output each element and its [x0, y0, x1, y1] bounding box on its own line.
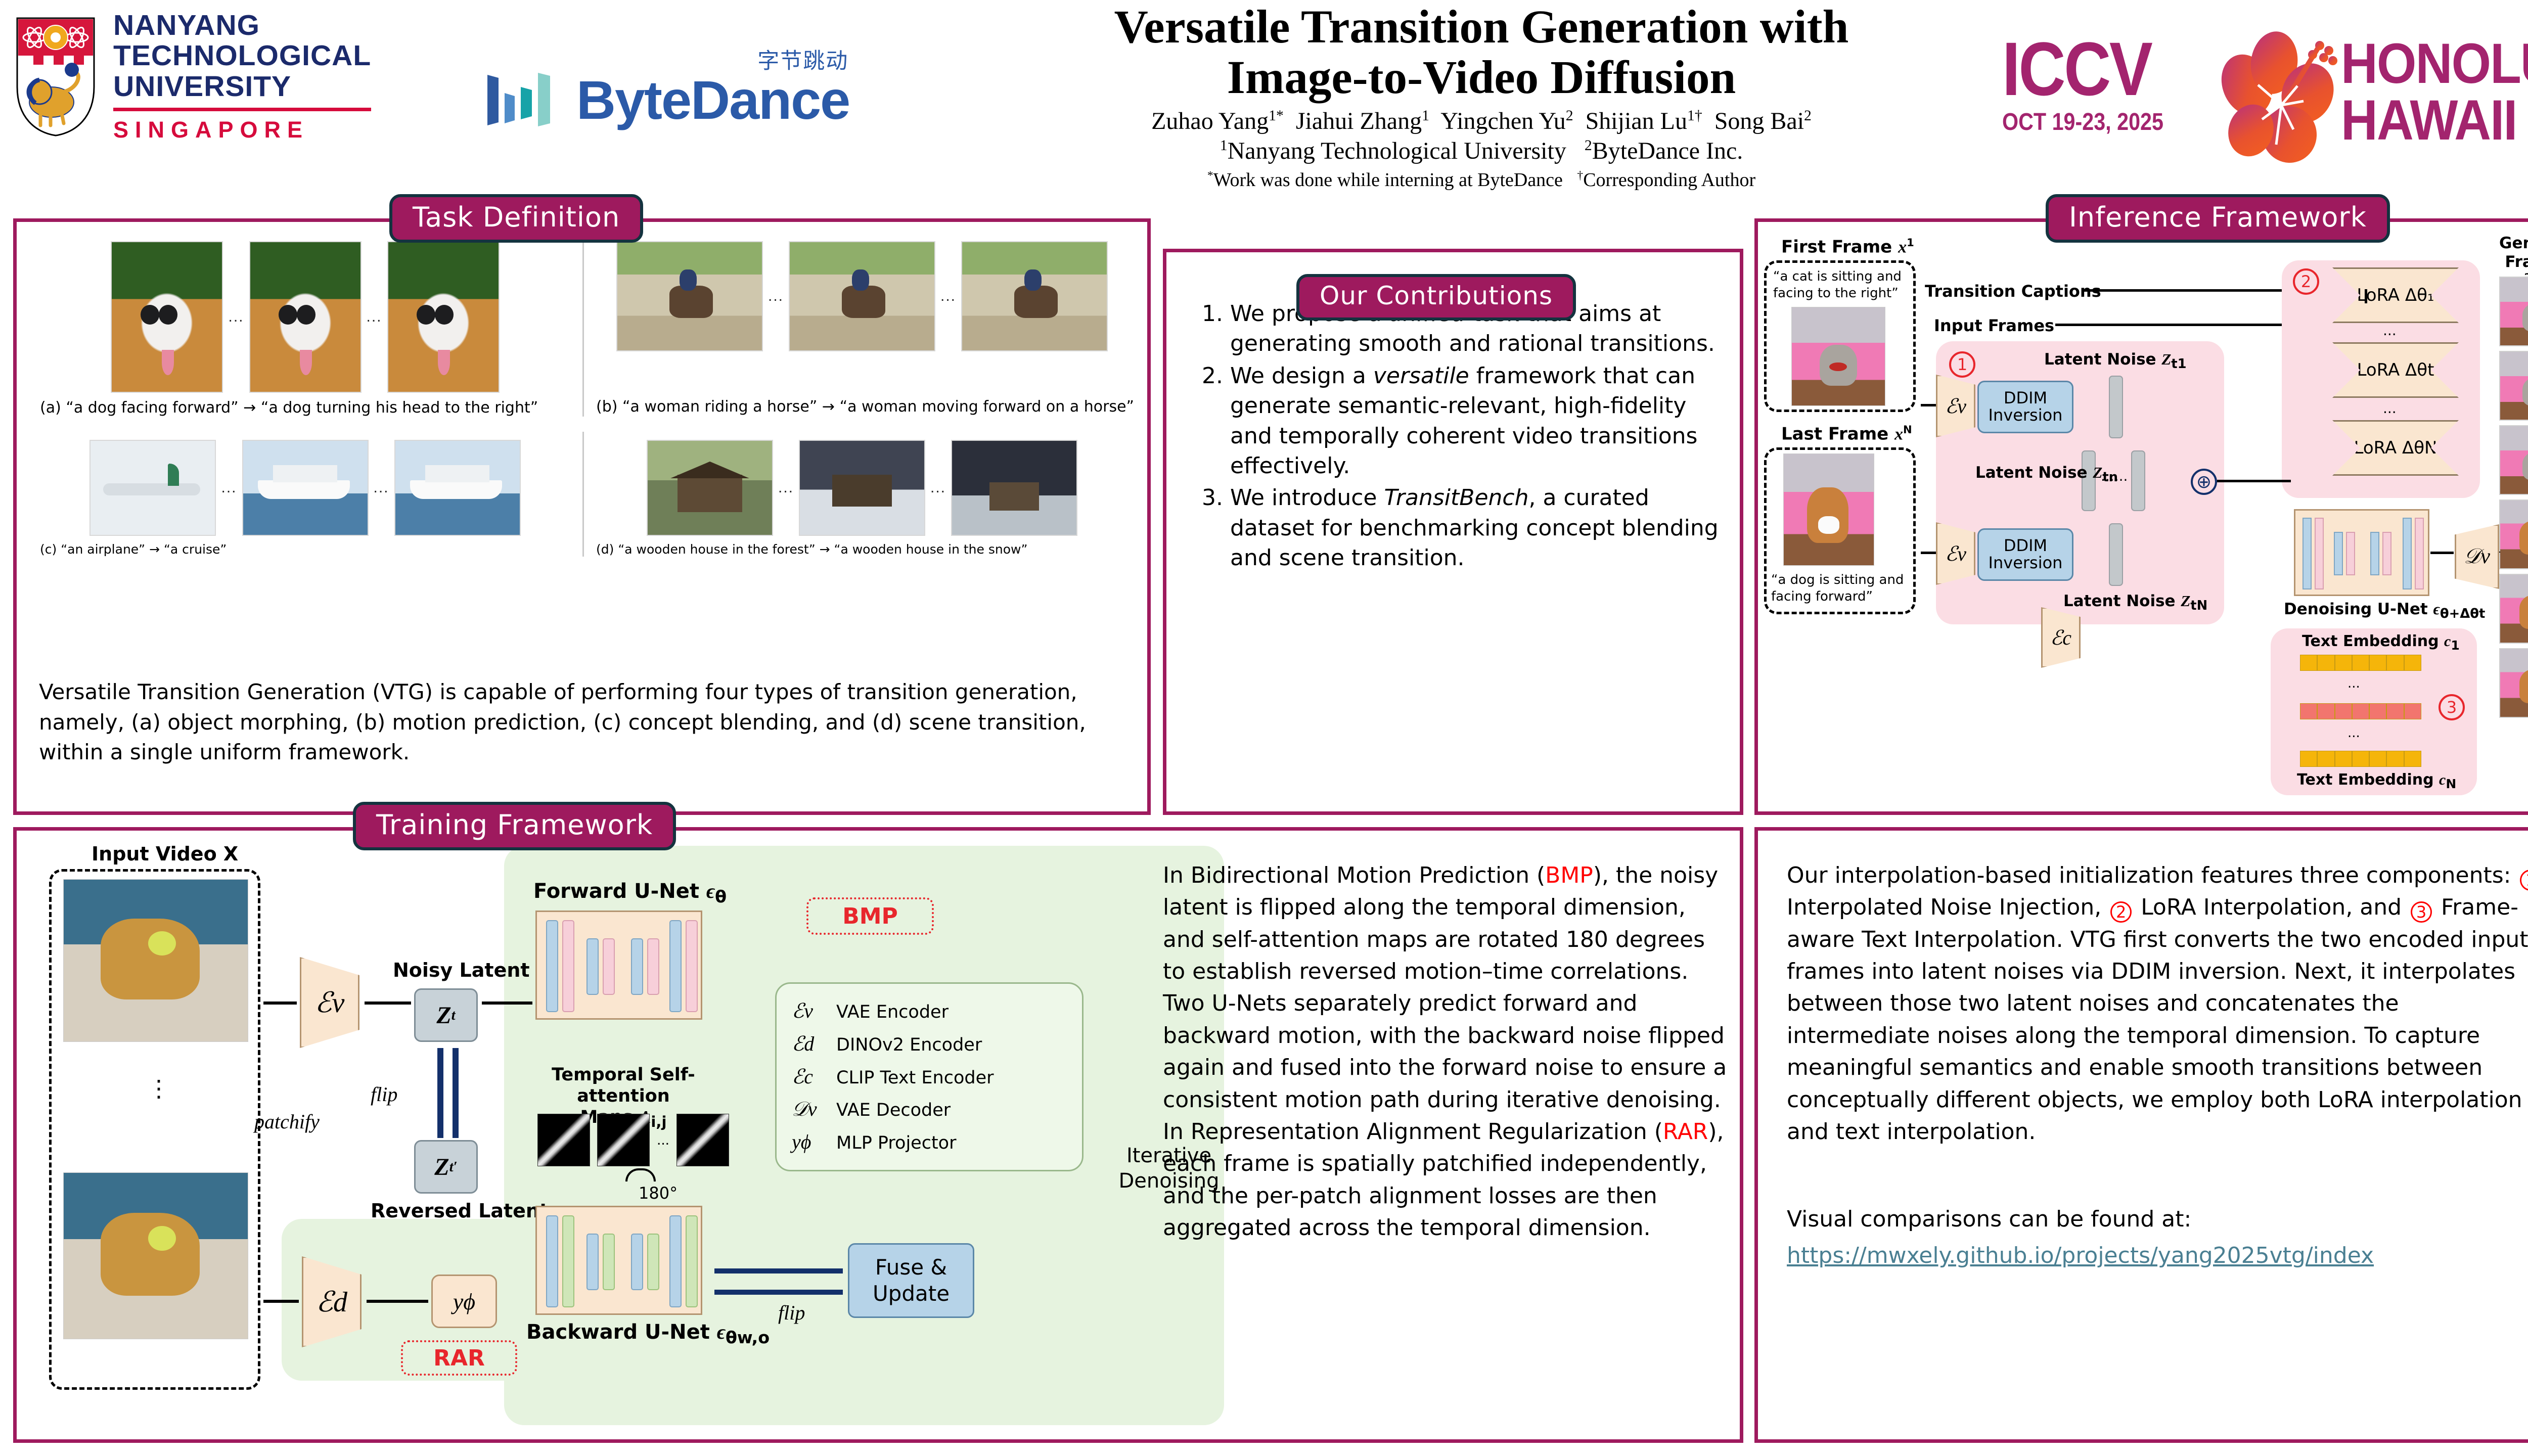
last-frame-label: Last Frame xN [1781, 423, 1912, 444]
frames-ellipsis: ... [768, 288, 784, 305]
denoising-unet-label: Denoising U-Net ϵθ+Δθt [2284, 600, 2485, 621]
sum-operator-icon: ⊕ [2191, 469, 2217, 495]
generated-frame [2499, 351, 2528, 421]
inline-marker-1: 1 [2520, 870, 2528, 891]
legend-row: 𝒟vVAE Decoder [792, 1093, 1067, 1126]
visual-comparisons-label: Visual comparisons can be found at: [1787, 1203, 2528, 1235]
latent-noise-t1-label: Latent Noise Zt1 [2044, 350, 2187, 372]
task-example-d: ... ... (d) “a wooden house in the fores… [584, 432, 1140, 557]
input-frame-last [63, 1172, 248, 1339]
inference-framework-panel: First Frame x1 “a cat is sitting and fac… [1754, 218, 2528, 815]
ntu-line-4: SINGAPORE [113, 117, 371, 143]
inline-marker-2: 2 [2110, 901, 2132, 923]
task-example-a: ... ... (a) “a dog facing forward” → “a … [28, 233, 584, 417]
project-page-link[interactable]: https://mwxely.github.io/projects/yang20… [1787, 1243, 2374, 1268]
frames-ellipsis: ... [778, 479, 794, 496]
input-frames-label: Input Frames [1934, 316, 2054, 335]
transition-captions-label-top: Transition Captions [1925, 282, 2101, 301]
iccv-state: HAWAII [2341, 92, 2528, 149]
footnote-list: *Work was done while interning at ByteDa… [1001, 168, 1962, 193]
patchify-label: patchify [254, 1110, 320, 1133]
training-description-text: In Bidirectional Motion Prediction (BMP)… [1163, 859, 1734, 1244]
generated-frame [2499, 425, 2528, 495]
vae-encoder-top-icon: ℰv [1936, 375, 1975, 437]
task-example-c: ... ... (c) “an airplane” → “a cruise” [28, 432, 584, 557]
ddim-inversion-top: DDIM Inversion [1977, 381, 2073, 433]
frames-ellipsis: ... [221, 479, 237, 496]
legend-row: ℰcCLIP Text Encoder [792, 1061, 1067, 1094]
latent-noise-tn-label: Latent Noise Ztn [1975, 464, 2118, 485]
iccv-logo: ICCV OCT 19-23, 2025 [1987, 9, 2528, 171]
first-frame-caption: “a cat is sitting and facing to the righ… [1773, 268, 1905, 301]
reversed-latent-label: Reversed Latent [371, 1200, 549, 1222]
latent-noise-tN-label: Latent Noise ZtN [2063, 592, 2207, 613]
flip-label-right: flip [778, 1301, 805, 1325]
bytedance-logo: 字节跳动 ByteDance [485, 55, 1006, 146]
ntu-logo: NANYANG TECHNOLOGICAL UNIVERSITY SINGAPO… [15, 11, 460, 143]
lora-dots-bottom: ... [2383, 400, 2397, 417]
arrow [2499, 552, 2500, 553]
arrow [2365, 289, 2367, 303]
attention-map [537, 1114, 590, 1166]
arrow [367, 1300, 428, 1303]
arrow [2430, 552, 2454, 554]
marker-1-icon: 1 [1949, 351, 1975, 378]
input-frame-first [63, 879, 248, 1042]
list-item: We design a versatile framework that can… [1230, 361, 1719, 481]
task-definition-panel: ... ... (a) “a dog facing forward” → “a … [13, 218, 1151, 815]
ntu-crest-icon [15, 16, 96, 138]
generated-frame [2499, 499, 2528, 569]
flip-arrow-up [453, 1048, 459, 1138]
fuse-update-box: Fuse & Update [848, 1243, 974, 1318]
flip-arrow-down [437, 1048, 443, 1138]
backward-unet-label: Backward U-Net ϵθw,o [526, 1320, 770, 1347]
task-example-grid: ... ... (a) “a dog facing forward” → “a … [28, 233, 1140, 557]
rar-badge: RAR [401, 1340, 517, 1376]
affiliation-list: 1Nanyang Technological University 2ByteD… [1001, 136, 1962, 166]
legend-row: ℰvVAE Encoder [792, 995, 1067, 1028]
backward-unet-shape [535, 1206, 702, 1315]
task-example-b: ... ... (b) “a woman riding a horse” → “… [584, 233, 1140, 417]
text-embedding-bar-mid [2300, 703, 2421, 719]
arrow [365, 1002, 411, 1005]
iccv-wordmark: ICCV [2002, 35, 2163, 102]
marker-2-icon: 2 [2293, 268, 2319, 295]
fuse-arrow-left [714, 1268, 843, 1273]
ntu-line-3: UNIVERSITY [113, 72, 371, 101]
bytedance-wordmark: ByteDance [576, 73, 849, 127]
last-frame-caption: “a dog is sitting and facing forward” [1771, 572, 1908, 605]
ztprime-box: Zt′ [414, 1140, 478, 1194]
title-block: Versatile Transition Generation with Ima… [1001, 2, 1962, 192]
inference-framework-title: Inference Framework [2046, 194, 2390, 243]
task-caption-d: (d) “a wooden house in the forest” → “a … [596, 542, 1128, 557]
marker-3-icon: 3 [2439, 694, 2465, 720]
ntu-line-1: NANYANG [113, 11, 371, 40]
denoising-unet-shape [2294, 509, 2429, 596]
vertical-ellipsis: ⋮ [147, 1083, 170, 1094]
frames-ellipsis: ... [930, 479, 946, 496]
generated-frame [2499, 277, 2528, 346]
generated-frame [2499, 648, 2528, 718]
text-embedding-c1-label: Text Embedding c1 [2302, 632, 2460, 653]
text-embedding-bar-cN [2300, 751, 2421, 767]
training-framework-title: Training Framework [353, 802, 676, 850]
frames-ellipsis: ... [367, 308, 382, 326]
task-caption-a: (a) “a dog facing forward” → “a dog turn… [40, 399, 570, 417]
arrow [263, 1002, 297, 1005]
text-embedding-cN-label: Text Embedding cN [2297, 771, 2456, 791]
bmp-badge: BMP [806, 897, 934, 935]
frames-ellipsis: ... [228, 308, 244, 326]
inference-diagram: First Frame x1 “a cat is sitting and fac… [1758, 222, 2528, 811]
task-definition-title: Task Definition [389, 194, 643, 243]
latent-dots: ...... [2101, 468, 2128, 484]
rotate-180-label: 180° [639, 1184, 678, 1203]
noisy-latent-label: Noisy Latent [393, 959, 530, 981]
arrow [1921, 552, 1936, 554]
legend-row: ℰdDINOv2 Encoder [792, 1028, 1067, 1061]
contributions-title: Our Contributions [1296, 274, 1576, 321]
vae-decoder-icon: 𝒟v [2455, 524, 2499, 589]
arrow [1921, 404, 1936, 406]
page-title: Versatile Transition Generation with Ima… [1001, 2, 1962, 103]
mlp-projector-icon: yϕ [431, 1275, 497, 1328]
vae-encoder-bottom-icon: ℰv [1936, 522, 1975, 585]
inference-description-text: Our interpolation-based initialization f… [1787, 859, 2528, 1271]
attention-map [676, 1114, 729, 1166]
poster-header: NANYANG TECHNOLOGICAL UNIVERSITY SINGAPO… [0, 0, 2528, 222]
iccv-city: HONOLULU [2341, 35, 2528, 92]
embedding-dots-bottom: ... [2348, 725, 2360, 741]
attention-map-row: ... [537, 1114, 729, 1166]
vae-encoder-icon: ℰv [300, 957, 359, 1048]
latent-bar [2109, 523, 2123, 586]
contributions-list: We propose a unified task that aims at g… [1191, 299, 1719, 575]
task-caption-c: (c) “an airplane” → “a cruise” [40, 542, 570, 557]
text-embedding-bar-c1 [2300, 655, 2421, 671]
zt-box: Zt [414, 988, 478, 1042]
forward-unet-label: Forward U-Net ϵθ [533, 879, 727, 906]
first-frame-image [1791, 307, 1885, 406]
fuse-arrow-right [714, 1290, 843, 1295]
hibiscus-flower-icon [2209, 25, 2346, 167]
ddim-inversion-bottom: DDIM Inversion [1977, 528, 2073, 581]
ntu-line-2: TECHNOLOGICAL [113, 41, 371, 70]
input-video-label: Input Video X [92, 843, 238, 865]
latent-bar [2131, 450, 2145, 511]
first-frame-label: First Frame x1 [1781, 236, 1914, 257]
clip-text-encoder-icon: ℰc [2041, 607, 2081, 668]
frames-ellipsis: ... [940, 288, 956, 305]
task-caption-b: (b) “a woman riding a horse” → “a woman … [596, 398, 1128, 416]
task-summary-text: Versatile Transition Generation (VTG) is… [39, 677, 1131, 767]
inline-marker-3: 3 [2411, 901, 2432, 923]
embedding-dots-top: ... [2348, 676, 2360, 691]
bytedance-mark-icon [485, 70, 561, 130]
last-frame-image [1783, 453, 1874, 566]
frames-ellipsis: ... [374, 479, 389, 496]
attention-maps-ellipsis: ... [657, 1131, 669, 1149]
forward-unet-shape [535, 911, 702, 1020]
arrow [263, 1300, 299, 1303]
bytedance-chinese-name: 字节跳动 [757, 43, 848, 75]
author-list: Zuhao Yang1* Jiahui Zhang1 Yingchen Yu2 … [1001, 107, 1962, 136]
lora-dots-top: ... [2383, 322, 2397, 339]
arrow [2217, 480, 2291, 482]
legend-row: yϕMLP Projector [792, 1126, 1067, 1159]
latent-bar [2109, 376, 2123, 438]
ntu-divider [113, 108, 371, 111]
arrow [482, 1002, 532, 1005]
iccv-date: OCT 19-23, 2025 [2002, 108, 2163, 136]
generated-frame [2499, 574, 2528, 644]
attention-map [597, 1114, 650, 1166]
symbol-legend: ℰvVAE Encoder ℰdDINOv2 Encoder ℰcCLIP Te… [775, 982, 1084, 1171]
list-item: We introduce TransitBench, a curated dat… [1230, 483, 1719, 573]
contributions-panel: We propose a unified task that aims at g… [1163, 249, 1743, 815]
generated-frames-column [2499, 277, 2528, 718]
flip-label-left: flip [371, 1082, 397, 1106]
